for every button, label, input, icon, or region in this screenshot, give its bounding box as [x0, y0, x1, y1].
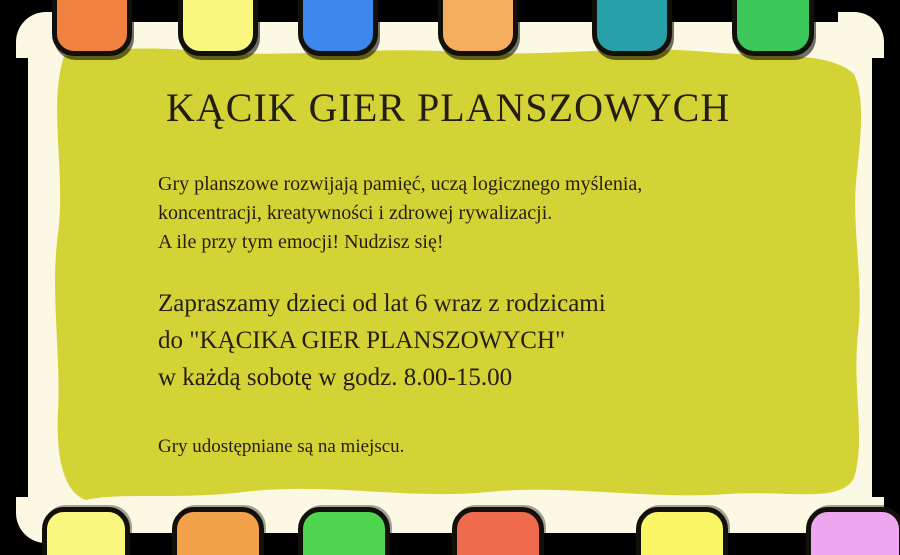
invitation-line-2: do "KĄCIKA GIER PLANSZOWYCH" [158, 322, 830, 359]
invitation-paragraph: Zapraszamy dzieci od lat 6 wraz z rodzic… [158, 285, 830, 396]
bottom-tile-green [298, 507, 390, 555]
poster-content: KĄCIK GIER PLANSZOWYCH Gry planszowe roz… [0, 0, 900, 458]
bottom-tile-red [452, 507, 544, 555]
bottom-tile-yellow-2 [636, 507, 728, 555]
intro-paragraph: Gry planszowe rozwijają pamięć, uczą log… [158, 170, 830, 257]
spacer [158, 257, 830, 285]
poster-canvas: KĄCIK GIER PLANSZOWYCH Gry planszowe roz… [0, 0, 900, 555]
invitation-line-3: w każdą sobotę w godz. 8.00-15.00 [158, 359, 830, 396]
invitation-line-1: Zapraszamy dzieci od lat 6 wraz z rodzic… [158, 285, 830, 322]
intro-line-1: Gry planszowe rozwijają pamięć, uczą log… [158, 170, 830, 199]
intro-line-2: koncentracji, kreatywności i zdrowej ryw… [158, 199, 830, 228]
footer-note: Gry udostępniane są na miejscu. [158, 436, 830, 458]
bottom-tile-pink [806, 507, 900, 555]
bottom-tile-orange [172, 507, 264, 555]
bottom-tile-yellow [42, 507, 130, 555]
page-title: KĄCIK GIER PLANSZOWYCH [166, 86, 830, 130]
intro-line-3: A ile przy tym emocji! Nudzisz się! [158, 228, 830, 257]
